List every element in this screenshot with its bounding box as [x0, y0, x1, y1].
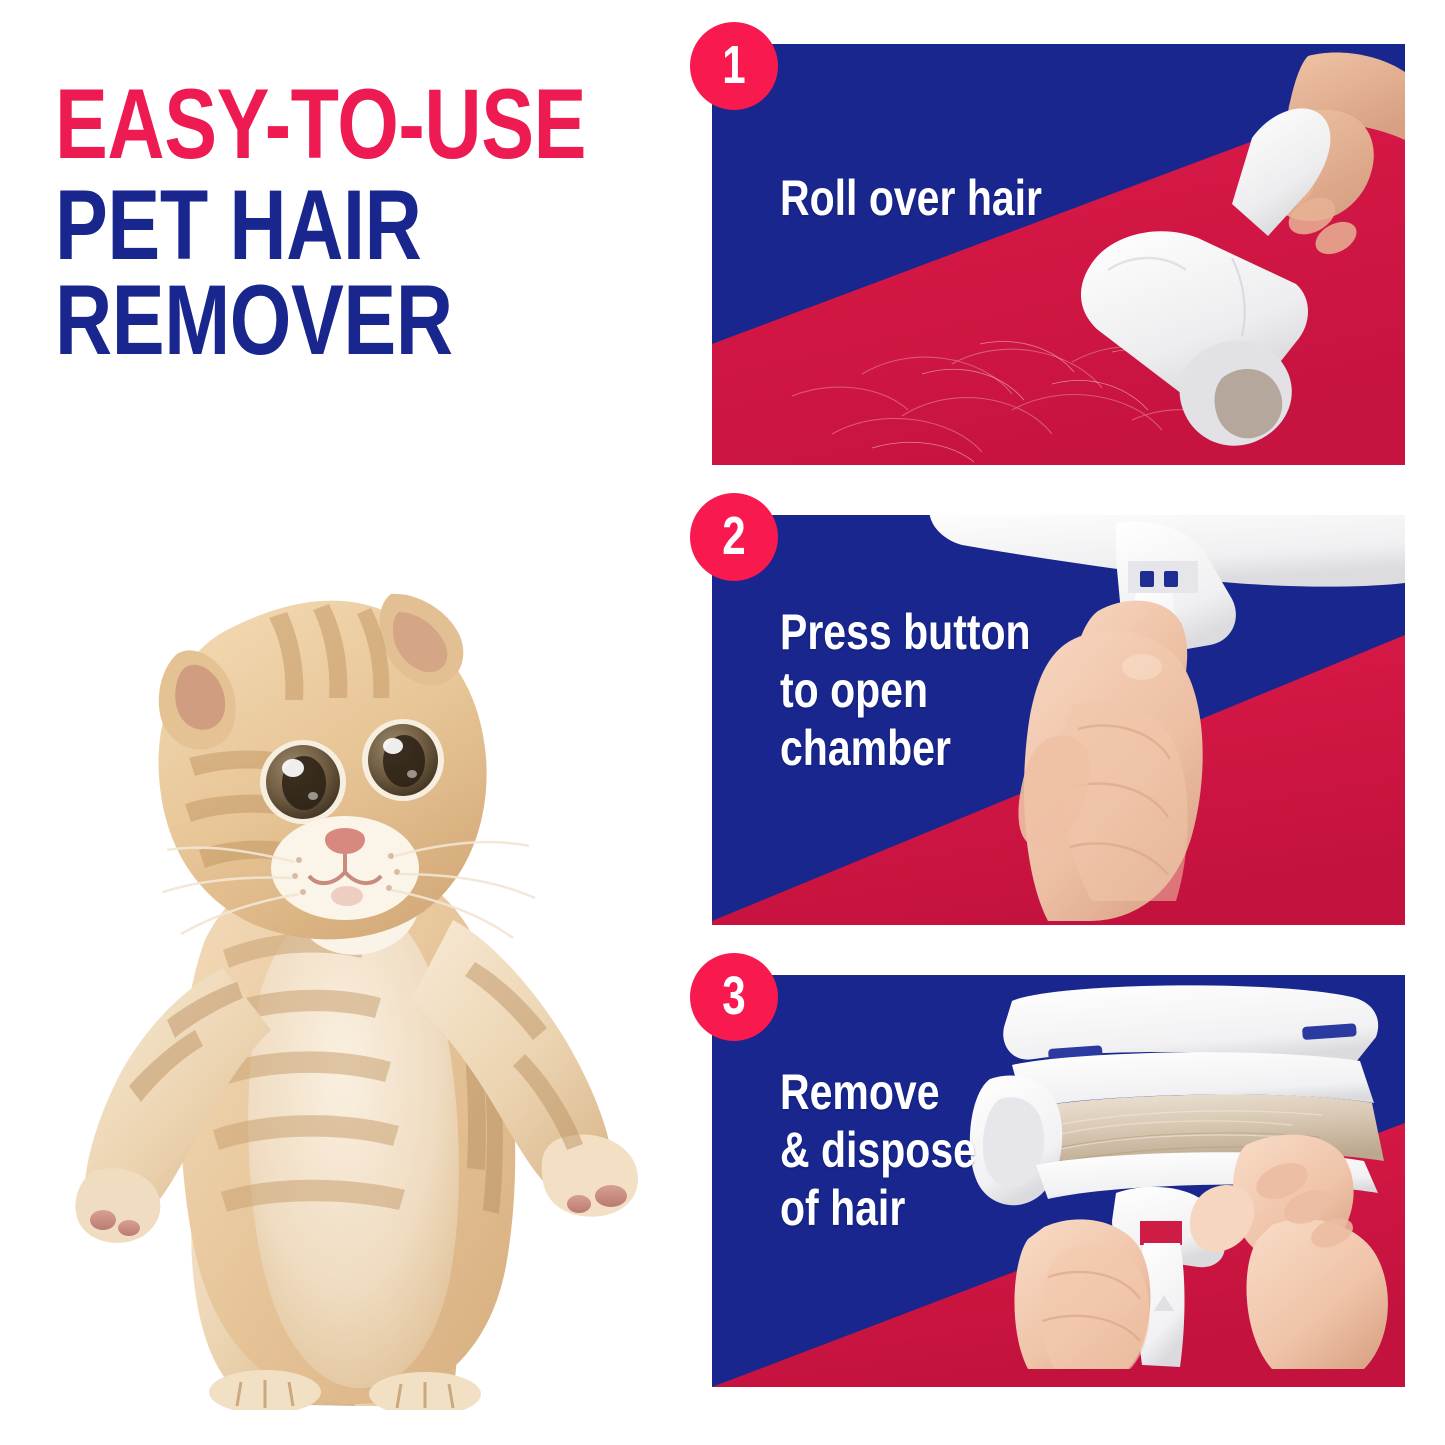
step-2-caption-line-2: to open — [780, 661, 1031, 719]
step-2-caption-line-3: chamber — [780, 719, 1031, 777]
step-3-caption-line-2: & dispose — [780, 1121, 976, 1179]
step-1-number: 1 — [722, 38, 745, 92]
step-3-caption-line-1: Remove — [780, 1063, 976, 1121]
step-panel-1: 1 Roll over hair — [712, 44, 1405, 465]
headline-line-2: PET HAIR — [55, 179, 551, 270]
kitten-photo — [55, 520, 655, 1410]
step-panel-3: 3 Remove & dispose of hair — [712, 975, 1405, 1387]
product-infographic: EASY-TO-USE PET HAIR REMOVER — [0, 0, 1445, 1445]
step-1-caption-line-1: Roll over hair — [780, 172, 1042, 224]
step-3-badge: 3 — [690, 953, 778, 1041]
step-3-caption: Remove & dispose of hair — [780, 1063, 1019, 1237]
left-column: EASY-TO-USE PET HAIR REMOVER — [0, 0, 690, 1445]
step-2-badge: 2 — [690, 493, 778, 581]
headline-block: EASY-TO-USE PET HAIR REMOVER — [55, 78, 675, 365]
step-3-caption-line-3: of hair — [780, 1179, 976, 1237]
headline-line-3: REMOVER — [55, 274, 551, 365]
step-panel-2: 2 Press button to open chamber — [712, 515, 1405, 925]
step-3-number: 3 — [722, 969, 745, 1023]
step-1-image — [712, 44, 1405, 465]
step-2-caption-line-1: Press button — [780, 603, 1031, 661]
headline-line-1: EASY-TO-USE — [55, 78, 551, 169]
step-2-number: 2 — [722, 509, 745, 563]
step-1-badge: 1 — [690, 22, 778, 110]
step-2-caption: Press button to open chamber — [780, 603, 1086, 777]
step-1-caption: Roll over hair — [780, 172, 1100, 224]
